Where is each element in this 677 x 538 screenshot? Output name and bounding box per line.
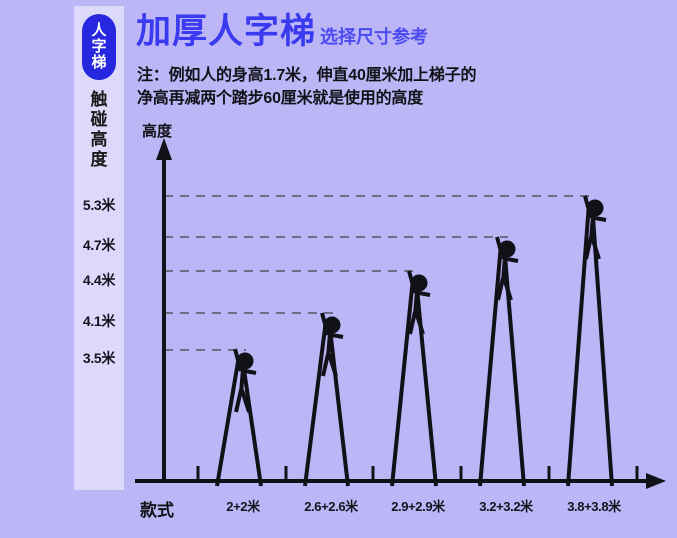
ladder-group-2 — [305, 313, 348, 486]
y-axis-arrow — [156, 138, 172, 160]
x-axis — [135, 473, 666, 489]
ladder-icon-2 — [305, 320, 348, 486]
y-axis — [156, 138, 172, 481]
chart-plot-area — [0, 0, 677, 538]
ladder-icon-1 — [217, 356, 261, 486]
ladder-group-1 — [217, 349, 261, 486]
x-axis-arrow — [646, 473, 666, 489]
ladder-group-3 — [392, 271, 436, 486]
ladder-group-5 — [568, 196, 612, 486]
grid-lines — [164, 196, 594, 350]
ladder-group-4 — [480, 237, 524, 486]
ladder-height-chart: 高度 款式 2+2米 2.6+2.6米 2.9+2.9米 3.2+3.2米 3.… — [0, 0, 677, 538]
